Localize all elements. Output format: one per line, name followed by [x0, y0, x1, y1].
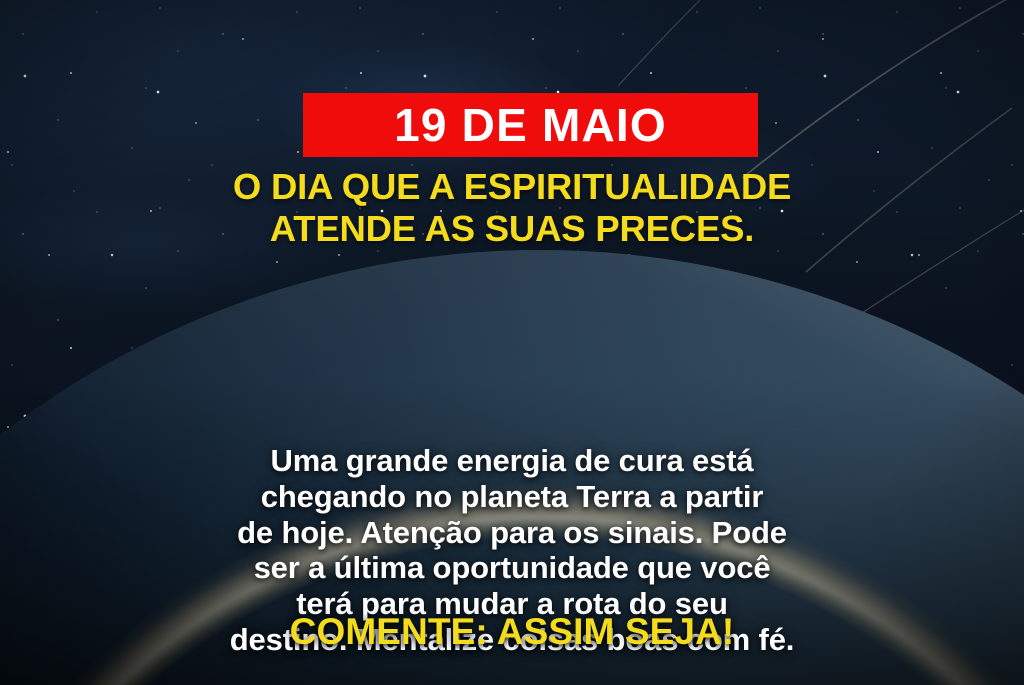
- body-line-2: chegando no planeta Terra a partir: [30, 479, 994, 515]
- date-banner-text: 19 DE MAIO: [394, 102, 667, 148]
- poster-content: 19 DE MAIO O DIA QUE A ESPIRITUALIDADE A…: [0, 0, 1024, 685]
- headline-line-2: ATENDE AS SUAS PRECES.: [14, 208, 1010, 250]
- body-line-3: de hoje. Atenção para os sinais. Pode: [30, 515, 994, 551]
- headline-line-1: O DIA QUE A ESPIRITUALIDADE: [14, 166, 1010, 208]
- headline: O DIA QUE A ESPIRITUALIDADE ATENDE AS SU…: [0, 166, 1024, 249]
- date-banner: 19 DE MAIO: [303, 93, 758, 157]
- body-line-1: Uma grande energia de cura está: [30, 443, 994, 479]
- body-line-4: ser a última oportunidade que você: [30, 550, 994, 586]
- call-to-action-text: COMENTE: ASSIM SEJA!: [0, 612, 1024, 653]
- poster-canvas: 19 DE MAIO O DIA QUE A ESPIRITUALIDADE A…: [0, 0, 1024, 685]
